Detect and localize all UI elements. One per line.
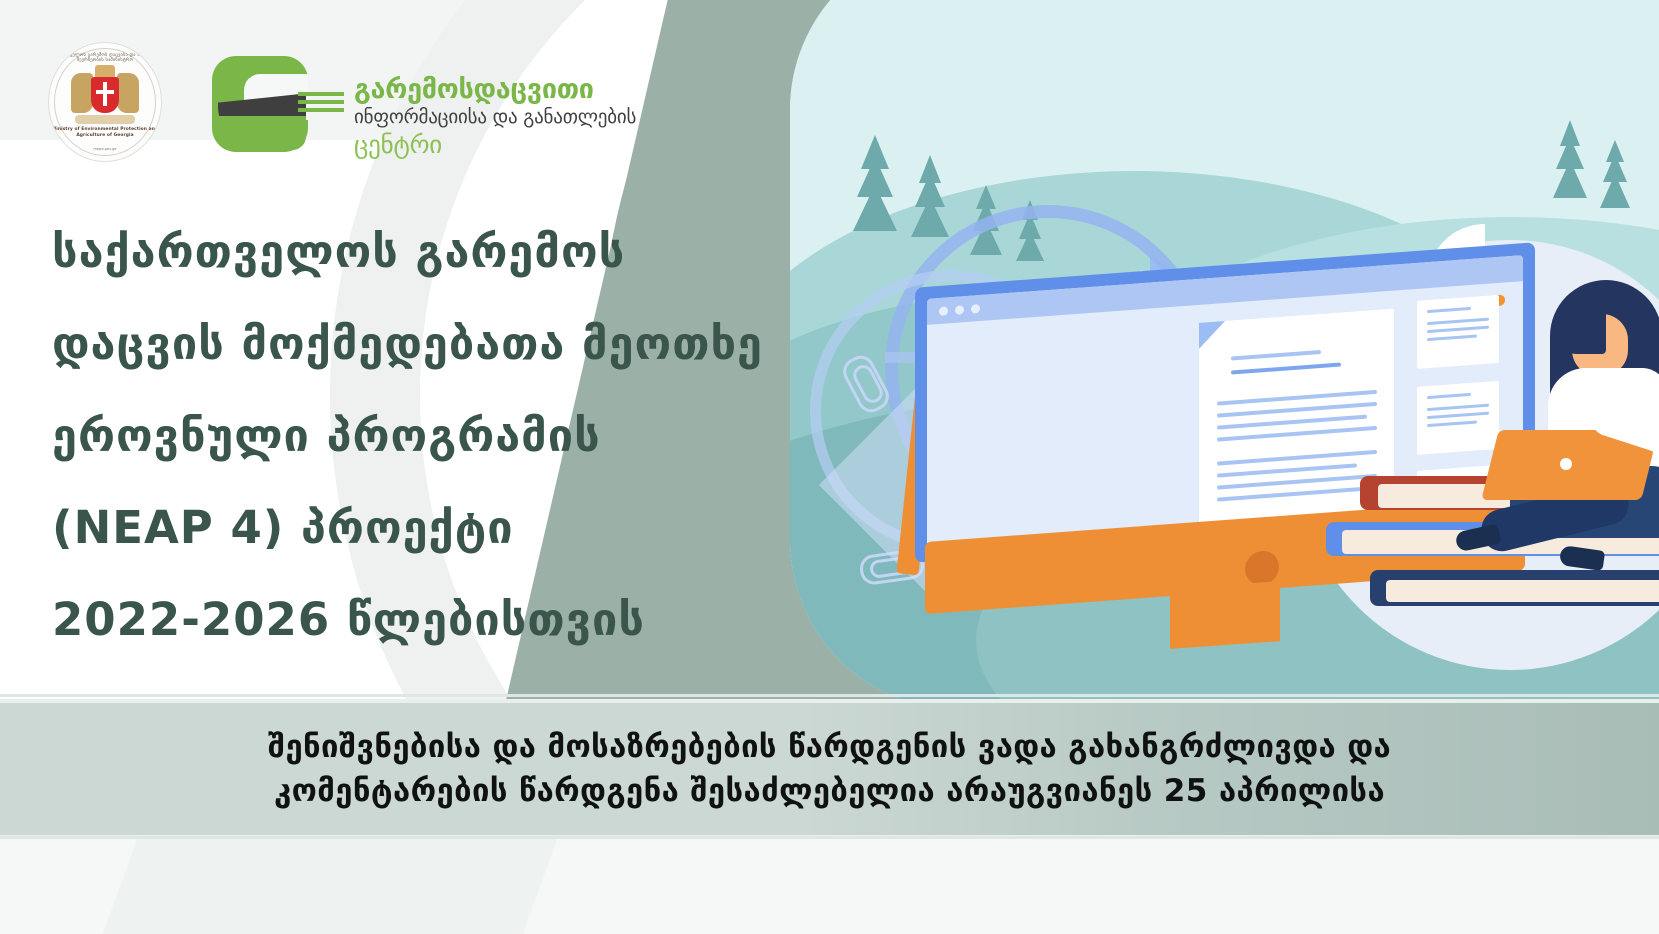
monitor-stand-neck [1170,581,1280,649]
seal-shield-st-george [91,77,119,113]
headline-line-3: ეროვნული პროგრამის [52,390,772,482]
headline-line-2: დაცვის მოქმედებათა მეოთხე [52,298,772,390]
headline-line-5: 2022-2026 წლებისთვის [52,574,772,666]
footer-diagonal-accent [103,839,558,934]
ministry-seal-logo: საქართველოს გარემოს დაცვისა და სოფლის მე… [48,42,162,162]
seal-url-text: mepa.gov.ge [49,147,161,151]
logo-title-line1: გარემოსდაცვითი [354,74,594,105]
hair-front [1556,294,1606,354]
laptop-logo-dot [1560,458,1572,470]
logo-title-line3: ცენტრი [354,130,442,159]
seal-crown [95,65,115,77]
banner-top-strip [0,694,1659,697]
headline-line-1: საქართველოს გარემოს [52,206,772,298]
woman-with-laptop-figure [1490,280,1659,540]
logo-title-line2: ინფორმაციისა და განათლების [354,106,636,128]
illustration-panel [790,0,1659,710]
seal-ribbon [75,115,135,124]
headline-block: საქართველოს გარემოს დაცვის მოქმედებათა მ… [52,206,772,666]
announcement-banner: შენიშვნებისა და მოსაზრებების წარდგენის ვ… [0,699,1659,839]
document-thumb [1417,381,1499,455]
center-logo: გარემოსდაცვითი ინფორმაციისა და განათლები… [212,52,562,162]
seal-lion-left [71,73,93,113]
banner-line-1: შენიშვნებისა და მოსაზრებების წარდგენის ვ… [268,725,1391,769]
poster-root: საქართველოს გარემოს დაცვისა და სოფლის მე… [0,0,1659,934]
seal-lion-right [117,73,139,113]
logo-bars-icon [298,92,344,114]
headline-line-4: (NEAP 4) პროექტი [52,482,772,574]
banner-line-2: კომენტარების წარდგენა შესაძლებელია არაუგ… [274,769,1385,813]
seal-georgian-arc-text: საქართველოს გარემოს დაცვისა და სოფლის მე… [49,53,161,63]
book-pages [1386,580,1659,602]
banner-bottom-strip [0,836,1659,839]
seal-english-text: Ministry of Environmental Protection and… [49,127,161,139]
document-thumb [1417,295,1499,369]
